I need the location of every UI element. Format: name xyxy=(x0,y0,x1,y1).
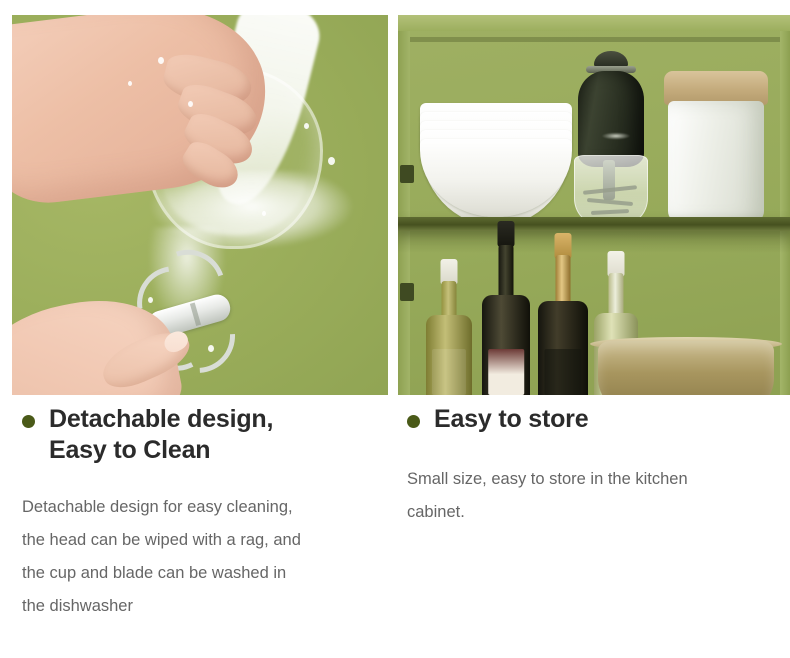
cabinet-hinge xyxy=(400,283,414,301)
cabinet-top-rail xyxy=(398,15,790,31)
feature-headline-row: Easy to store xyxy=(407,404,772,435)
feature-column-detachable-design: Detachable design, Easy to Clean Detacha… xyxy=(0,404,395,623)
ceramic-canister xyxy=(664,71,768,223)
brand-logo-icon xyxy=(596,131,636,141)
bottle-body xyxy=(426,315,472,395)
cabinet-right-post xyxy=(780,31,790,395)
bullet-dot-icon xyxy=(407,415,420,428)
feature-headline: Detachable design, Easy to Clean xyxy=(49,404,273,465)
copper-pot xyxy=(598,341,774,395)
easy-to-store-photo xyxy=(398,15,790,395)
bowl xyxy=(420,139,572,217)
feature-image-row xyxy=(12,15,790,395)
cork-lid xyxy=(664,71,768,105)
cabinet-hinge xyxy=(400,165,414,183)
bullet-dot-icon xyxy=(22,415,35,428)
jar-blade-wing xyxy=(591,209,629,215)
bottle-label xyxy=(488,349,524,395)
water-droplet xyxy=(188,101,193,107)
wine-bottle xyxy=(538,233,588,395)
bottle-body xyxy=(538,301,588,395)
bottle-neck xyxy=(609,273,624,317)
stacked-bowls xyxy=(420,103,572,215)
feature-description: Detachable design for easy cleaning, the… xyxy=(22,491,377,623)
cabinet-left-post xyxy=(398,31,410,395)
bottle-neck xyxy=(556,255,571,307)
feature-headline: Easy to store xyxy=(434,404,588,435)
detachable-design-photo xyxy=(12,15,388,395)
chopper-motor-body xyxy=(578,71,644,167)
product-feature-page: Detachable design, Easy to Clean Detacha… xyxy=(0,0,790,658)
bottle-body xyxy=(482,295,530,395)
feature-description: Small size, easy to store in the kitchen… xyxy=(407,463,772,529)
wine-bottle xyxy=(482,221,530,395)
feature-column-easy-to-store: Easy to store Small size, easy to store … xyxy=(395,404,790,623)
wine-bottle xyxy=(426,259,472,395)
water-droplet xyxy=(304,123,309,129)
water-droplet xyxy=(128,81,132,86)
water-droplet xyxy=(328,157,335,165)
bottle-label xyxy=(432,349,466,395)
shelf-shadow xyxy=(398,231,790,253)
chopper-glass-jar xyxy=(574,155,648,225)
bottle-cap xyxy=(498,221,515,247)
canister-body xyxy=(668,101,764,223)
cabinet-shelf xyxy=(398,217,790,231)
cabinet-inner-edge xyxy=(408,37,790,42)
jar-blade-shaft xyxy=(603,160,615,200)
jar-blade-wing xyxy=(587,198,633,206)
water-droplet xyxy=(262,211,266,216)
feature-headline-row: Detachable design, Easy to Clean xyxy=(22,404,377,465)
feature-text-row: Detachable design, Easy to Clean Detacha… xyxy=(0,404,790,623)
bottle-label xyxy=(545,349,582,395)
mini-chopper-product xyxy=(570,51,652,225)
water-droplet xyxy=(158,57,164,64)
bottle-neck xyxy=(499,245,514,301)
